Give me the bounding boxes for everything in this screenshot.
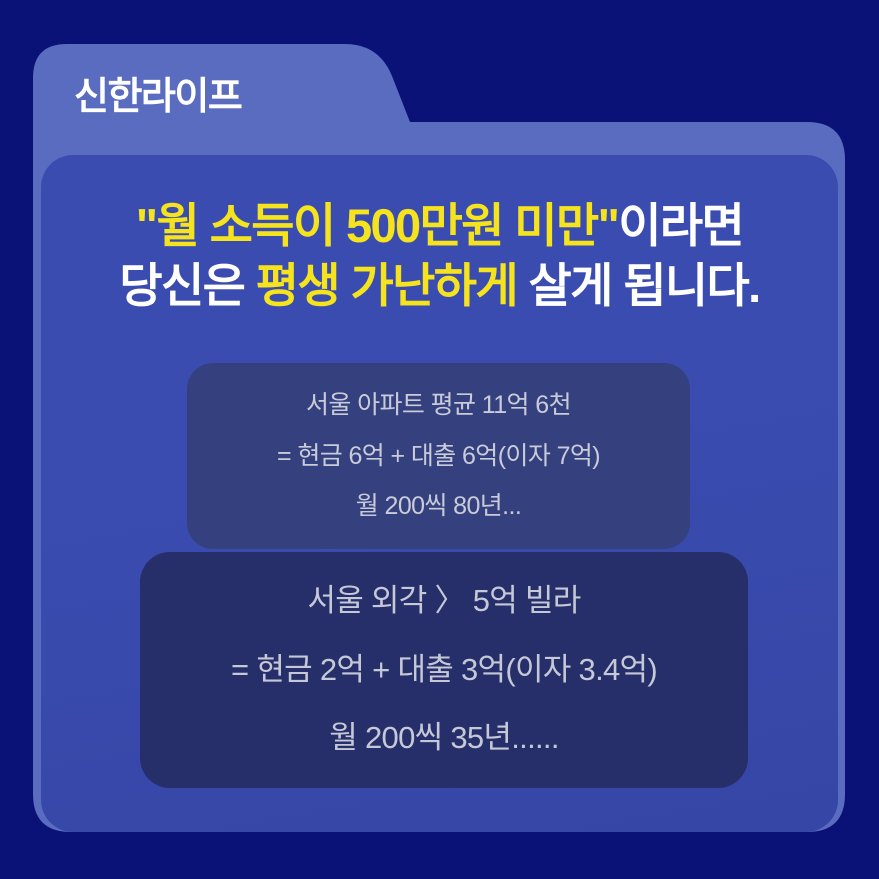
- stat-card-2-row-1: 서울 외각 〉 5억 빌라: [307, 567, 580, 636]
- headline-line-2-accent: 평생 가난하게: [256, 259, 517, 312]
- stat-card-1-row-1: 서울 아파트 평균 11억 6천: [306, 380, 571, 431]
- stat-card-seoul-outskirts-villa: 서울 외각 〉 5억 빌라 = 현금 2억 + 대출 3억(이자 3.4억) 월…: [140, 552, 748, 788]
- stat-card-1-row-3: 월 200씩 80년...: [356, 481, 521, 532]
- headline-line-2: 당신은 평생 가난하게 살게 됩니다.: [41, 256, 838, 316]
- stat-card-seoul-apartment: 서울 아파트 평균 11억 6천 = 현금 6억 + 대출 6억(이자 7억) …: [187, 363, 690, 549]
- headline-line-2-plain-a: 당신은: [119, 259, 255, 312]
- headline-line-1: "월 소득이 500만원 미만"이라면: [41, 196, 838, 256]
- promo-card-canvas: 신한라이프 "월 소득이 500만원 미만"이라면 당신은 평생 가난하게 살게…: [0, 0, 879, 879]
- page-title: "월 소득이 500만원 미만"이라면 당신은 평생 가난하게 살게 됩니다.: [41, 196, 838, 315]
- stat-card-1-row-2: = 현금 6억 + 대출 6억(이자 7억): [277, 431, 600, 482]
- stat-card-2-row-3: 월 200씩 35년......: [329, 704, 558, 773]
- headline-line-2-plain-b: 살게 됩니다.: [517, 259, 760, 312]
- stat-card-2-row-2: = 현금 2억 + 대출 3억(이자 3.4억): [231, 636, 657, 705]
- brand-logo: 신한라이프: [74, 78, 241, 116]
- headline-line-1-plain: 이라면: [618, 199, 743, 252]
- headline-line-1-accent: "월 소득이 500만원 미만": [136, 199, 618, 252]
